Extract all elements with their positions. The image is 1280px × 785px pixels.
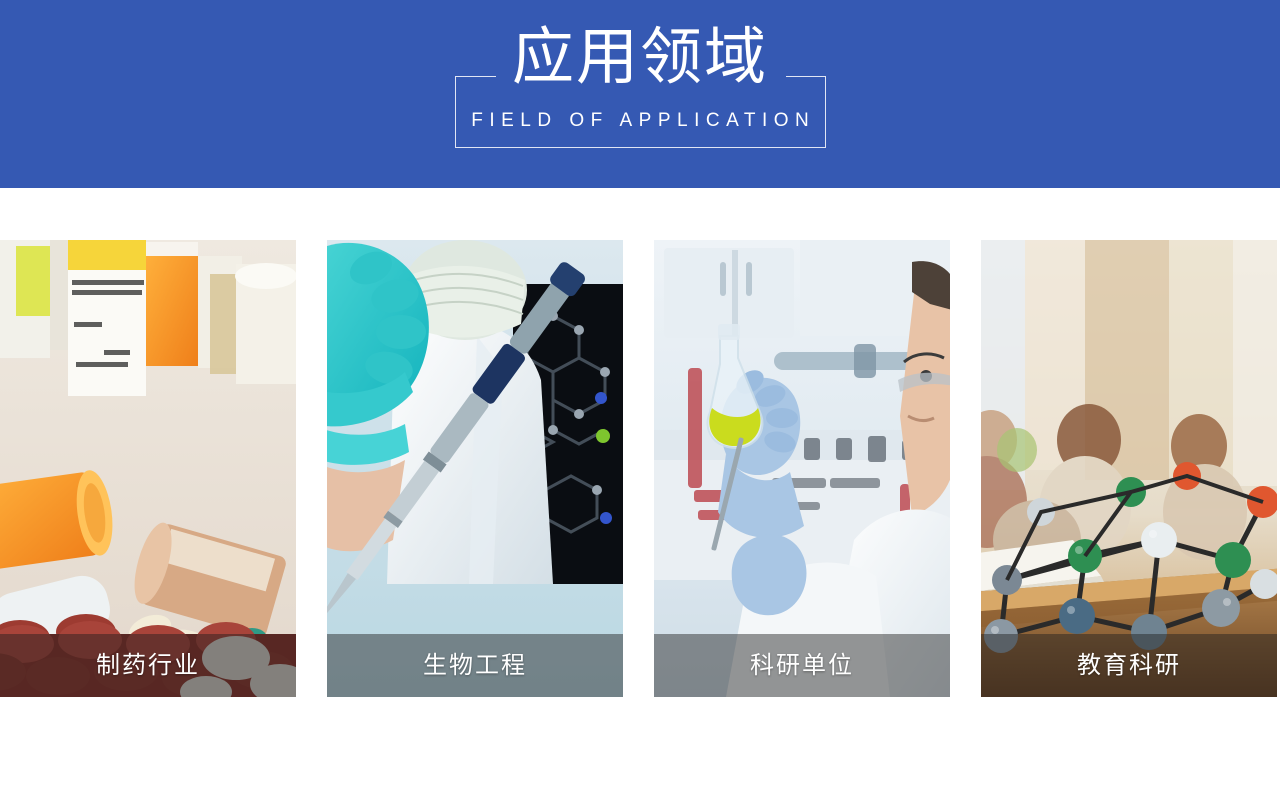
application-card[interactable]: 生物工程 (327, 240, 623, 697)
education-classroom-model-photo (981, 240, 1277, 697)
card-caption-label: 科研单位 (750, 654, 854, 678)
card-caption-label: 制药行业 (96, 654, 200, 678)
research-institute-flask-photo (654, 240, 950, 697)
pharmaceutical-bottles-photo (0, 240, 296, 697)
page-title-cn: 应用领域 (0, 22, 1280, 94)
card-caption-label: 生物工程 (423, 654, 527, 678)
page-subtitle-en: FIELD OF APPLICATION (0, 108, 1280, 134)
card-caption-bar: 教育科研 (981, 634, 1277, 697)
page-banner: 应用领域 FIELD OF APPLICATION (0, 0, 1280, 188)
bioengineering-pipette-photo (327, 240, 623, 697)
application-card[interactable]: 制药行业 (0, 240, 296, 697)
card-caption-bar: 制药行业 (0, 634, 296, 697)
card-caption-bar: 生物工程 (327, 634, 623, 697)
card-caption-bar: 科研单位 (654, 634, 950, 697)
application-card-row: 制药行业 (0, 240, 1280, 697)
application-card[interactable]: 科研单位 (654, 240, 950, 697)
application-card[interactable]: 教育科研 (981, 240, 1277, 697)
card-caption-label: 教育科研 (1077, 654, 1181, 678)
